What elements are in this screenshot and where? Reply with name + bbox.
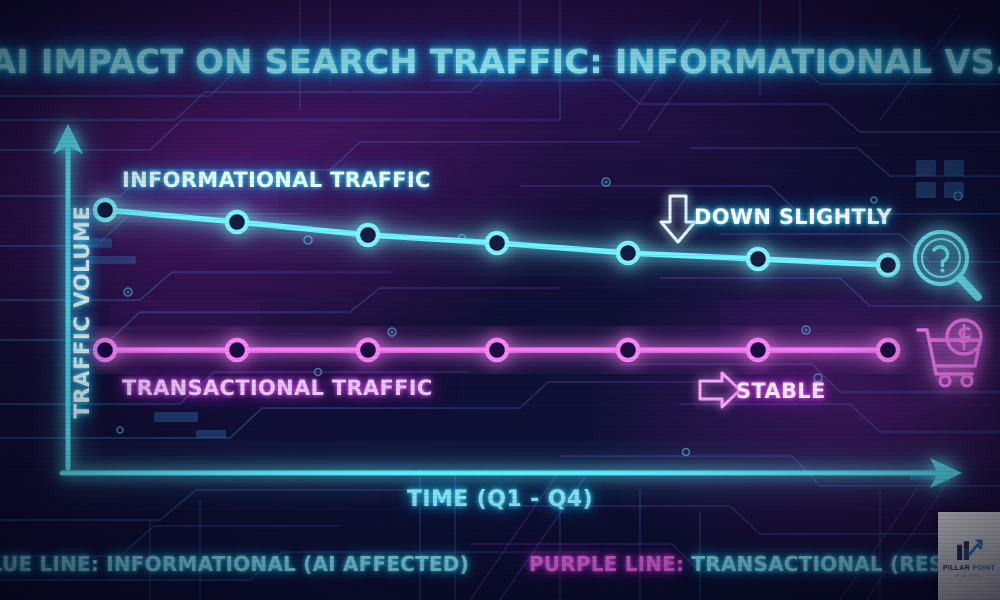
series-transactional — [95, 340, 898, 360]
annotation-stable: STABLE — [736, 379, 826, 403]
legend-item-transactional: PURPLE LINE: TRANSACTIONAL (RESILIENT) — [529, 552, 1000, 576]
logo-subtitle: DIGITAL — [956, 573, 982, 578]
logo-name-part2: POINT — [972, 565, 995, 572]
transactional-series-label: TRANSACTIONAL TRAFFIC — [122, 376, 433, 400]
right-arrow-icon — [700, 373, 740, 407]
infographic-canvas: AI IMPACT ON SEARCH TRAFFIC: INFORMATION… — [0, 0, 1000, 600]
down-arrow-icon — [661, 196, 695, 242]
legend-transactional-prefix: PURPLE LINE: — [529, 552, 684, 576]
brand-logo: PILLAR POINT DIGITAL — [938, 512, 1000, 600]
x-axis-label: TIME (Q1 - Q4) — [0, 487, 1000, 512]
logo-wordmark: PILLAR POINT — [943, 565, 995, 572]
informational-series-label: INFORMATIONAL TRAFFIC — [122, 168, 431, 192]
legend-item-informational: BLUE LINE: INFORMATIONAL (AI AFFECTED) — [0, 552, 469, 576]
logo-name-part1: PILLAR — [943, 565, 972, 572]
annotation-down-slightly: DOWN SLIGHTLY — [694, 205, 892, 229]
shopping-cart-dollar-icon — [918, 320, 981, 386]
legend: BLUE LINE: INFORMATIONAL (AI AFFECTED) P… — [0, 552, 1000, 576]
magnifier-question-icon — [915, 232, 978, 297]
pillar-point-mark — [952, 534, 986, 564]
y-axis-label: TRAFFIC VOLUME — [70, 197, 94, 427]
x-axis — [62, 458, 962, 488]
